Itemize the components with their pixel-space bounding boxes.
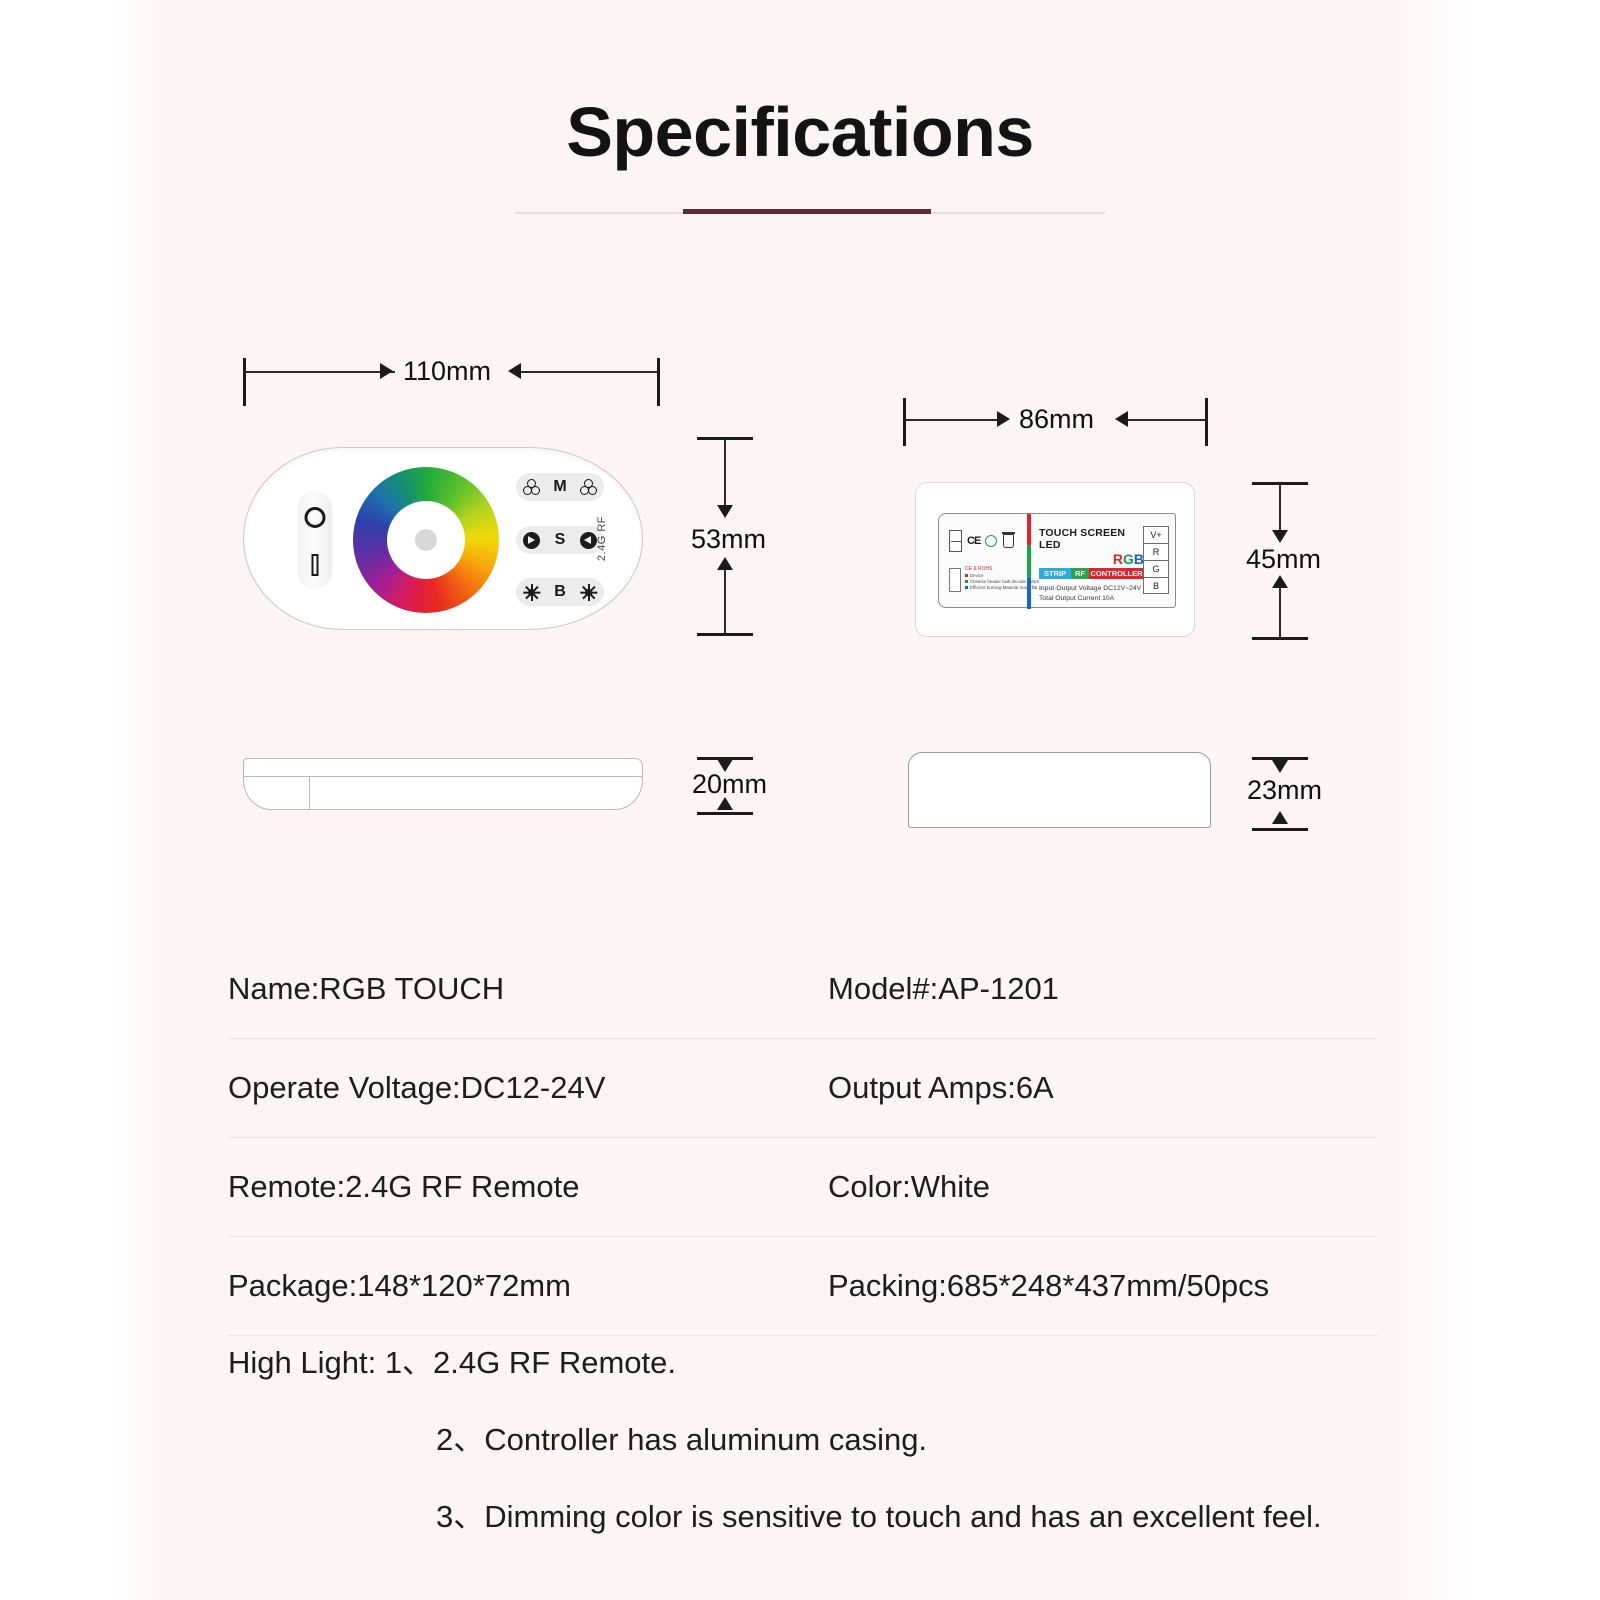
spec-name: Name:RGB TOUCH — [228, 971, 828, 1007]
controller-width-arrow-right — [1115, 411, 1128, 427]
color-wheel-hub-icon — [415, 529, 437, 551]
power-switch[interactable] — [297, 491, 332, 589]
speed-button-label: S — [555, 531, 566, 549]
rf-badge-label: 2.4G RF — [596, 516, 608, 561]
remote-side-view — [243, 758, 643, 810]
spec-model: Model#:AP-1201 — [828, 971, 1059, 1007]
remote-height-lead-bottom — [724, 570, 726, 633]
rgb-color-stripe — [1027, 514, 1031, 609]
label-voltage: Input·Output Voltage DC12V~24V — [1039, 585, 1144, 592]
page-title: Specifications — [0, 92, 1600, 172]
label-color-bar: STRIP RF CONTROLLER — [1039, 568, 1144, 579]
controller-width-arrow-left — [997, 411, 1010, 427]
controller-printed-label: TOUCH SCREEN LED RGB STRIP RF CONTROLLER… — [1039, 527, 1144, 602]
remote-side-bottom — [243, 776, 643, 810]
brightness-button-label: B — [554, 583, 566, 601]
controller-side-view — [908, 752, 1211, 828]
label-rgb-r: R — [1113, 551, 1123, 567]
remote-side-top — [243, 758, 643, 777]
controller-height-lead-top — [1279, 484, 1281, 534]
background-fade-left — [110, 0, 170, 1600]
controller-width-lead-right — [1128, 419, 1205, 421]
chip-icon — [949, 530, 962, 552]
spec-color: Color:White — [828, 1169, 990, 1205]
rohs-mark-icon — [985, 535, 997, 547]
controller-width-label: 86mm — [1019, 404, 1094, 435]
play-forward-icon — [523, 532, 540, 549]
stripe-red — [1027, 514, 1031, 545]
remote-height-lead-top — [724, 439, 726, 509]
controller-height-arrow-bottom — [1272, 575, 1288, 588]
controller-width-lead-left — [905, 419, 1005, 421]
spec-output-amps: Output Amps:6A — [828, 1070, 1054, 1106]
spec-remote: Remote:2.4G RF Remote — [228, 1169, 828, 1205]
fineprint-heading: CE & ROHS — [965, 566, 993, 572]
controller-width-ext-left — [903, 398, 906, 446]
controller-width-ext-right — [1205, 398, 1208, 446]
remote-top-view: M S B 2.4G RF — [243, 447, 643, 630]
terminal-block: V+ R G B — [1143, 526, 1169, 594]
rgb-circles-icon — [523, 479, 540, 496]
remote-width-ext-right — [657, 358, 660, 406]
remote-width-lead-left — [245, 371, 395, 373]
high-light-item-3: 3、Dimming color is sensitive to touch an… — [228, 1491, 1428, 1536]
remote-thickness-arrow-bottom — [717, 797, 733, 810]
controller-thickness-ext-bottom — [1252, 828, 1308, 831]
remote-width-lead-right — [520, 371, 657, 373]
rgb-circles-icon — [580, 479, 597, 496]
controller-height-lead-bottom — [1279, 588, 1281, 637]
controller-thickness-arrow-top — [1272, 760, 1288, 773]
play-back-icon — [580, 532, 597, 549]
remote-width-ext-left — [243, 358, 246, 406]
specifications-page: Specifications 110mm M S — [0, 0, 1600, 1600]
remote-thickness-label: 20mm — [692, 769, 767, 800]
remote-height-arrow-bottom — [717, 557, 733, 570]
controller-top-view: CE CE & ROHS Device Chinese header built… — [915, 482, 1195, 637]
terminal-g: G — [1143, 560, 1169, 577]
remote-height-label: 53mm — [691, 524, 766, 555]
mode-button-label: M — [553, 478, 566, 496]
stripe-green — [1027, 545, 1031, 577]
label-rgb-g: G — [1123, 551, 1134, 567]
remote-width-arrow-left — [380, 363, 393, 379]
table-row: Operate Voltage:DC12-24V Output Amps:6A — [228, 1039, 1378, 1138]
title-divider-accent — [683, 209, 931, 214]
controller-height-label: 45mm — [1246, 544, 1321, 575]
sun-rays — [523, 584, 540, 601]
controller-thickness-label: 23mm — [1247, 775, 1322, 806]
label-current: Total Output Current 10A — [1039, 595, 1144, 602]
spec-packing: Packing:685*248*437mm/50pcs — [828, 1268, 1269, 1304]
table-row: Package:148*120*72mm Packing:685*248*437… — [228, 1237, 1378, 1336]
speed-button[interactable]: S — [516, 526, 604, 554]
spec-operate-voltage: Operate Voltage:DC12-24V — [228, 1070, 828, 1106]
high-light-item-2: 2、Controller has aluminum casing. — [228, 1414, 1428, 1459]
terminal-r: R — [1143, 543, 1169, 560]
controller-height-arrow-top — [1272, 530, 1288, 543]
high-light-section: High Light: 1、2.4G RF Remote. 2、Controll… — [228, 1337, 1428, 1568]
label-bar-rf: RF — [1071, 568, 1089, 579]
sun-rays — [580, 584, 597, 601]
sun-icon — [580, 584, 597, 601]
sun-icon — [523, 584, 540, 601]
ce-mark-icon: CE — [967, 535, 980, 547]
label-rgb: RGB — [1039, 552, 1144, 566]
table-row: Name:RGB TOUCH Model#:AP-1201 — [228, 940, 1378, 1039]
label-bar-controller: CONTROLLER — [1089, 568, 1144, 579]
stripe-blue — [1027, 578, 1031, 609]
mode-button[interactable]: M — [516, 473, 604, 501]
remote-height-arrow-top — [717, 505, 733, 518]
power-on-icon — [311, 554, 318, 576]
fineprint-block: CE & ROHS Device Chinese header built de… — [949, 566, 1027, 598]
spec-package: Package:148*120*72mm — [228, 1268, 828, 1304]
brightness-button[interactable]: B — [516, 578, 604, 606]
label-line-1: TOUCH SCREEN LED — [1039, 527, 1144, 551]
label-bar-strip: STRIP — [1039, 568, 1071, 579]
remote-thickness-ext-bottom — [697, 812, 753, 815]
specifications-table: Name:RGB TOUCH Model#:AP-1201 Operate Vo… — [228, 940, 1378, 1336]
controller-thickness-arrow-bottom — [1272, 811, 1288, 824]
weee-bin-icon — [1003, 534, 1014, 548]
high-light-item-1: High Light: 1、2.4G RF Remote. — [228, 1337, 1428, 1382]
power-off-icon — [304, 507, 325, 528]
controller-label-panel: CE CE & ROHS Device Chinese header built… — [938, 513, 1176, 608]
certification-marks: CE — [949, 530, 1021, 554]
chip-icon — [949, 568, 961, 592]
terminal-b: B — [1143, 577, 1169, 594]
remote-side-divider — [309, 777, 310, 809]
table-row: Remote:2.4G RF Remote Color:White — [228, 1138, 1378, 1237]
remote-height-ext-bottom — [697, 633, 753, 636]
terminal-vplus: V+ — [1143, 526, 1169, 543]
controller-height-ext-bottom — [1252, 637, 1308, 640]
remote-width-label: 110mm — [403, 356, 491, 387]
